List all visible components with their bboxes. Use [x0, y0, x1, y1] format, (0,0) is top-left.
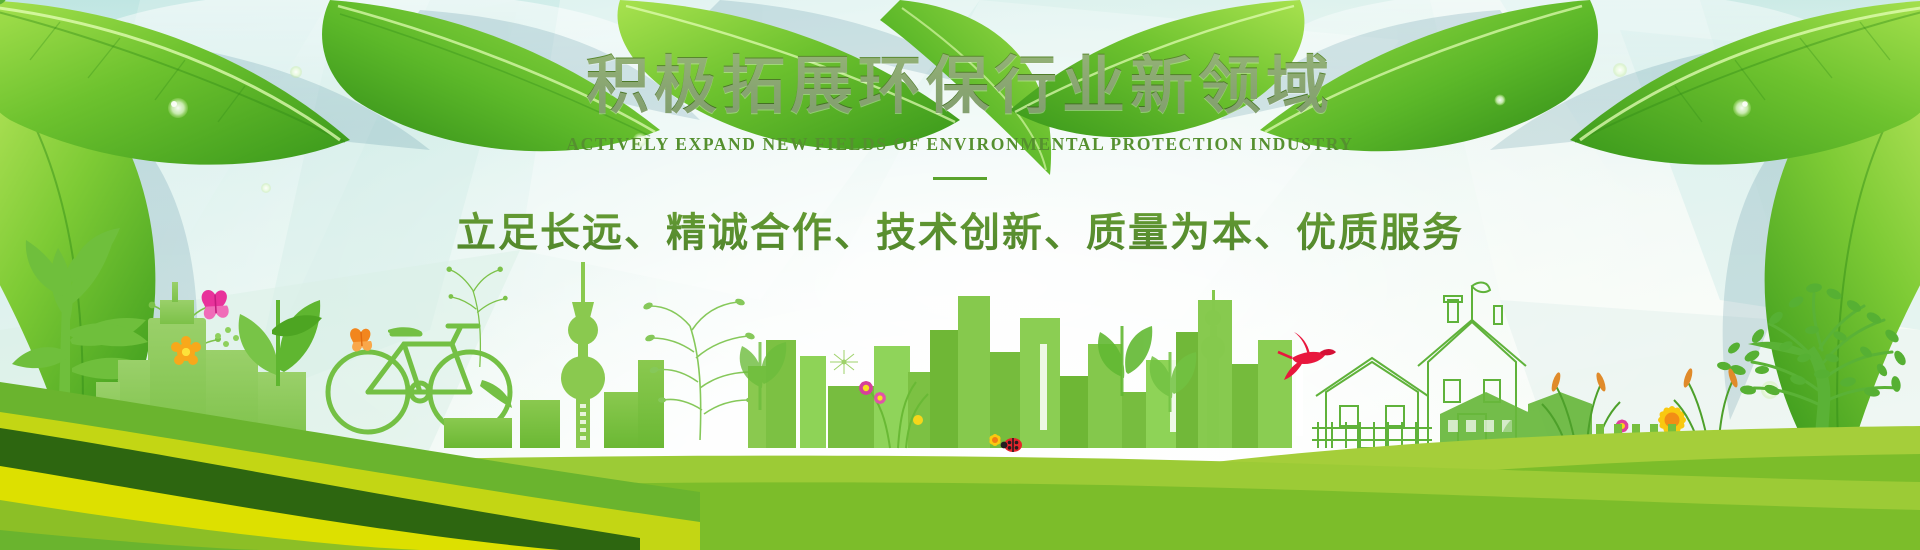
- leaf-sprout-icon: [1150, 352, 1197, 412]
- water-drop-icon: [1761, 381, 1779, 399]
- grass-icon: [866, 382, 928, 448]
- oriental-pearl-tower-icon: [561, 262, 605, 448]
- page-title: 积极拓展环保行业新领域: [0, 52, 1920, 118]
- seed-plant-icon: [446, 267, 507, 367]
- water-drop-icon: [137, 386, 155, 404]
- bicycle-fender-icon: [480, 380, 512, 408]
- wave-bands-icon: [0, 382, 700, 550]
- title-divider: [933, 177, 987, 180]
- oriental-pearl-tower-icon: [1201, 290, 1225, 448]
- ground-center-2: [0, 482, 1920, 550]
- ground-center: [0, 456, 1920, 550]
- flower-icon: [988, 434, 1002, 447]
- subtitle-english: ACTIVELY EXPAND NEW FIELDS OF ENVIRONMEN…: [0, 134, 1920, 155]
- butterfly-pink-icon: [202, 290, 229, 319]
- slogan-text: 立足长远、精诚合作、技术创新、质量为本、优质服务: [0, 200, 1920, 258]
- city-skyline-icon: [748, 296, 1303, 448]
- hummingbird-icon: [1278, 332, 1336, 380]
- butterfly-orange-icon: [350, 328, 372, 351]
- dandelion-icon: [830, 350, 858, 374]
- city-skyline-icon: [444, 360, 664, 448]
- fence-icon: [1590, 424, 1686, 456]
- seed-plant-icon: [149, 302, 221, 420]
- sapling-icon: [12, 228, 156, 430]
- flower-icon: [1614, 418, 1629, 434]
- grass-icon: [118, 360, 180, 430]
- flower-icon: [171, 336, 201, 365]
- leaf-sprout-icon: [740, 342, 787, 410]
- bicycle-seat-icon: [388, 327, 422, 336]
- ground-hill-right: [1150, 426, 1920, 550]
- eco-banner: 积极拓展环保行业新领域 ACTIVELY EXPAND NEW FIELDS O…: [0, 0, 1920, 550]
- flower-icon: [873, 391, 887, 405]
- house-outline-icon: [1312, 283, 1526, 448]
- leaf-sprout-icon: [239, 300, 322, 386]
- ground-hill-right-2: [1180, 454, 1920, 550]
- leaf-sprout-icon: [1098, 326, 1152, 396]
- cattail-icon: [1542, 368, 1739, 456]
- flower-icon: [913, 415, 923, 425]
- city-skyline-icon: [96, 282, 306, 448]
- sunflower-icon: [1650, 405, 1692, 465]
- headline-block: 积极拓展环保行业新领域 ACTIVELY EXPAND NEW FIELDS O…: [0, 0, 1920, 258]
- reed-plant-icon: [642, 297, 759, 440]
- flower-icon: [858, 379, 874, 396]
- ladybug-icon: [1001, 438, 1022, 452]
- house-filled-icon: [1440, 392, 1592, 448]
- bicycle-icon: [328, 326, 510, 432]
